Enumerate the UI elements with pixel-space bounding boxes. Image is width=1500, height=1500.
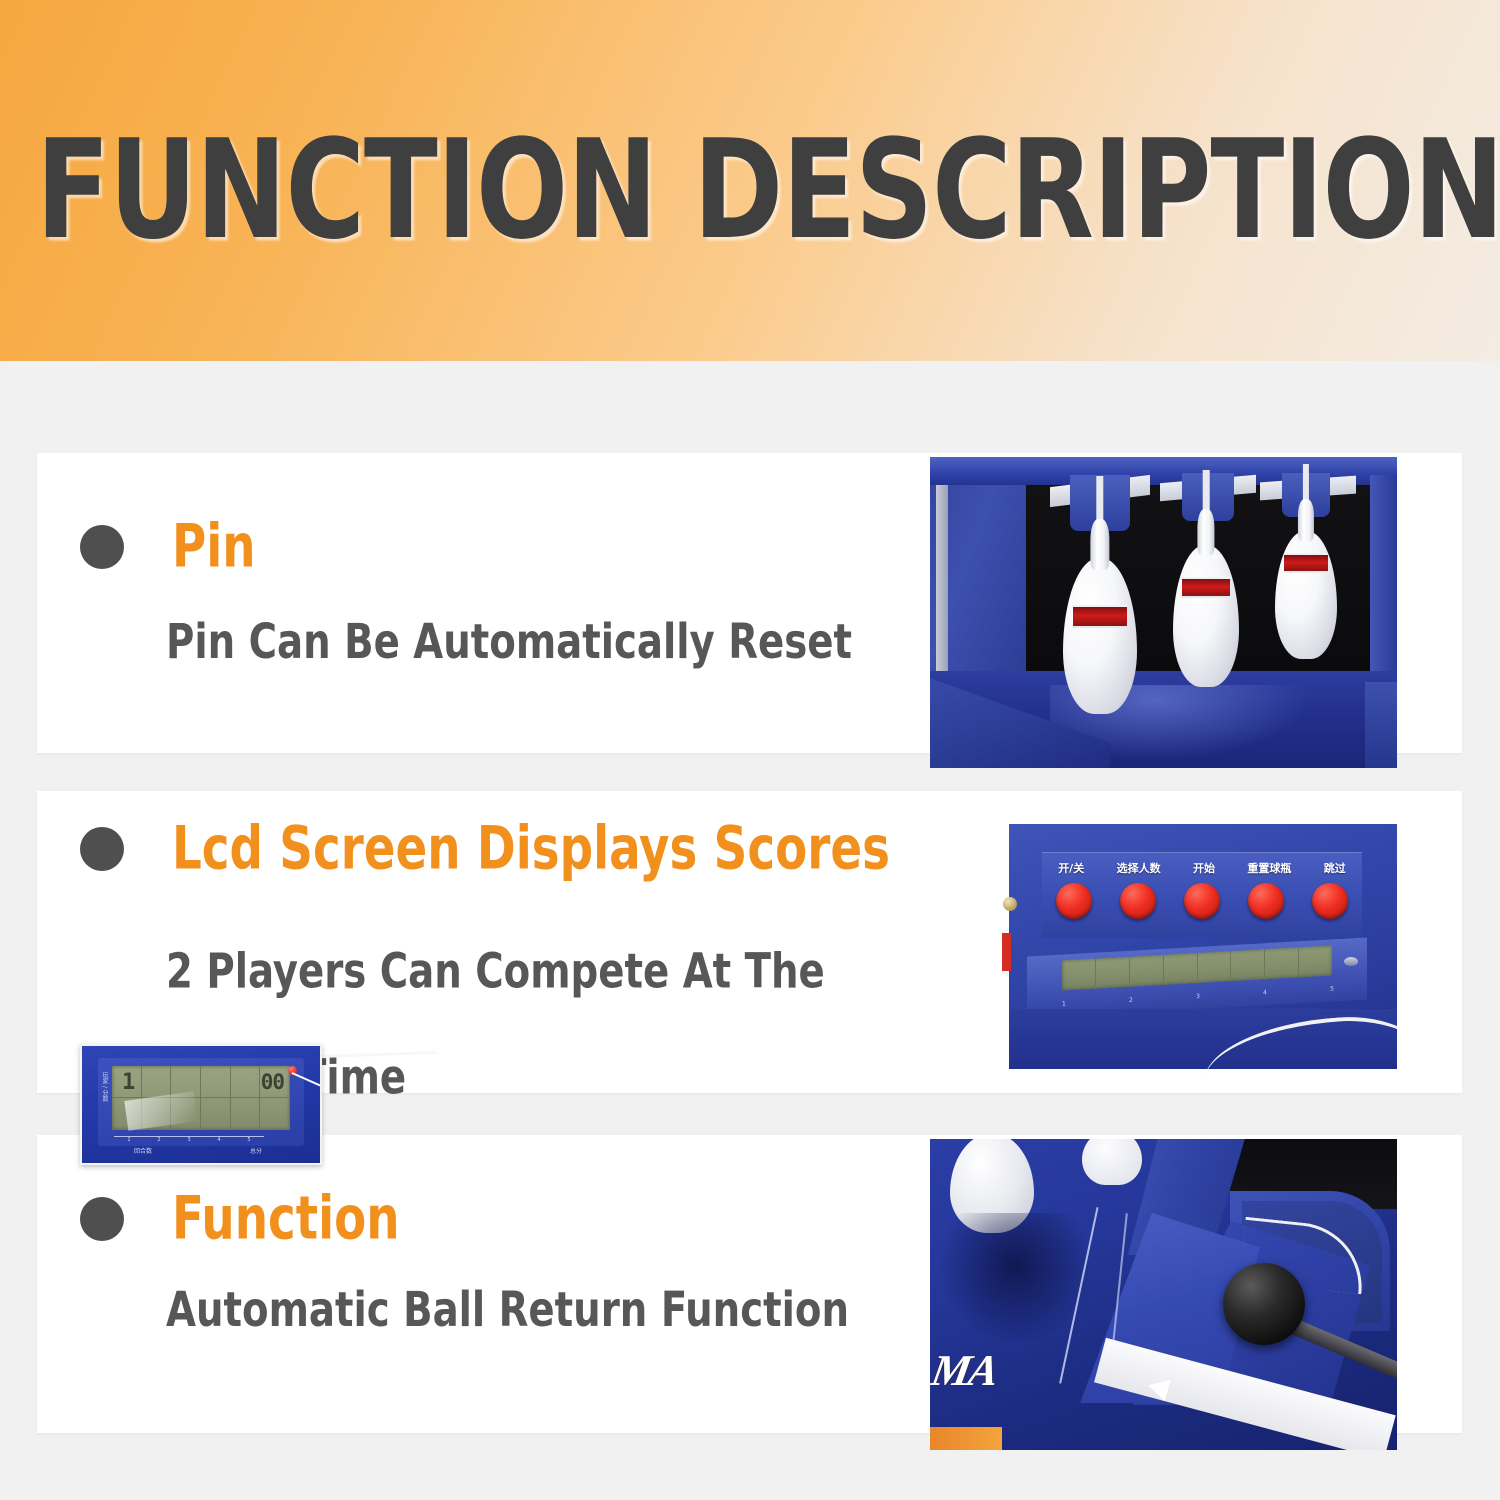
lcd-cell <box>260 1098 290 1130</box>
lcd-cell <box>1231 949 1265 981</box>
skip-button[interactable] <box>1312 883 1348 919</box>
pin-neck <box>1197 509 1214 555</box>
right-post <box>1370 475 1397 685</box>
feature-card-pin: Pin Pin Can Be Automatically Reset <box>37 453 1462 753</box>
pin-body <box>1173 545 1239 687</box>
bullet-dot-icon <box>80 525 124 569</box>
photo-bowling-pins <box>930 457 1397 768</box>
card-heading: Lcd Screen Displays Scores <box>172 819 890 878</box>
bowling-pin <box>1275 499 1337 659</box>
pin-body <box>1275 531 1337 659</box>
pin-red-stripe <box>1284 553 1329 573</box>
lcd-player-digit: 1 <box>122 1072 135 1094</box>
card-heading: Pin <box>172 517 256 576</box>
feature-card-function: Function Automatic Ball Return Function … <box>37 1135 1462 1433</box>
photo-control-panel: 开/关 选择人数 开始 重置球瓶 跳过 <box>972 797 1397 1089</box>
lcd-side-label: 玩家 / 分数 <box>100 1072 109 1102</box>
photo-lcd-closeup-inset: 玩家 / 分数 1 00 <box>80 1044 322 1165</box>
pin-body <box>1063 558 1137 714</box>
card-subtitle: Automatic Ball Return Function <box>166 1287 926 1335</box>
lcd-cell <box>1299 945 1332 977</box>
lcd-cell <box>201 1098 231 1130</box>
right-housing <box>1365 682 1397 768</box>
frame-tick: 5 <box>1330 985 1334 997</box>
cast-shadow <box>940 1213 1090 1343</box>
lcd-cell <box>231 1066 261 1098</box>
button-label-row: 开/关 选择人数 开始 重置球瓶 跳过 <box>1042 858 1362 878</box>
lcd-cell <box>1062 959 1096 991</box>
frame-tick: 3 <box>187 1137 190 1147</box>
bowling-ball <box>1223 1263 1305 1345</box>
lcd-score-digits: 00 <box>261 1072 284 1093</box>
card-text-block: Pin Pin Can Be Automatically Reset <box>37 453 917 753</box>
brand-logo: MA <box>930 1345 1001 1396</box>
knob-icon <box>1003 897 1017 911</box>
button-label-start: 开始 <box>1193 860 1215 876</box>
reset-pins-button[interactable] <box>1248 883 1284 919</box>
card-subtitle: Pin Can Be Automatically Reset <box>166 619 926 667</box>
frame-tick: 2 <box>157 1137 160 1147</box>
lcd-cell <box>142 1066 172 1098</box>
power-button[interactable] <box>1056 883 1092 919</box>
button-label-power: 开/关 <box>1058 860 1084 876</box>
pin-neck <box>1298 499 1314 541</box>
red-tab <box>1002 933 1011 971</box>
card-heading-row: Function <box>80 1193 400 1245</box>
frame-tick: 1 <box>127 1137 130 1147</box>
bullet-dot-icon <box>80 827 124 871</box>
lcd-screen: 1 00 <box>112 1066 290 1130</box>
lcd-bottom-label-right: 总分 <box>250 1146 262 1155</box>
lcd-cell <box>231 1098 261 1130</box>
card-heading-row: Pin <box>80 521 256 573</box>
feature-card-lcd-screen: Lcd Screen Displays Scores 2 Players Can… <box>37 791 1462 1093</box>
content-area: Pin Pin Can Be Automatically Reset <box>0 361 1500 1500</box>
lcd-cell <box>1265 947 1299 979</box>
button-label-select-players: 选择人数 <box>1117 860 1161 876</box>
card-text-block: Function Automatic Ball Return Function <box>37 1135 917 1433</box>
lcd-cell <box>1198 951 1232 983</box>
lcd-cell <box>201 1066 231 1098</box>
pin-red-stripe <box>1182 577 1230 599</box>
bowling-pin <box>1173 509 1239 687</box>
lcd-cell <box>1096 957 1130 989</box>
button-label-reset-pins: 重置球瓶 <box>1247 860 1291 876</box>
frame-tick: 4 <box>217 1137 220 1147</box>
frame-tick: 4 <box>1263 989 1267 1001</box>
frame-tick: 2 <box>1129 997 1133 1009</box>
screw-icon <box>1344 957 1358 966</box>
lcd-bottom-label: 回合数 <box>134 1146 152 1155</box>
bowling-pin <box>1063 519 1137 714</box>
select-players-button[interactable] <box>1120 883 1156 919</box>
button-label-skip: 跳过 <box>1324 860 1346 876</box>
lcd-cell <box>1130 955 1164 987</box>
start-button[interactable] <box>1184 883 1220 919</box>
left-edge-trim <box>936 475 948 675</box>
frame-tick: 3 <box>1196 993 1200 1005</box>
orange-accent-strip <box>930 1427 1002 1450</box>
card-heading: Function <box>172 1189 400 1248</box>
card-heading-row: Lcd Screen Displays Scores <box>80 823 890 875</box>
pin-red-stripe <box>1073 605 1126 629</box>
button-row <box>1042 879 1362 923</box>
photo-ball-return: MA <box>930 1139 1397 1450</box>
bullet-dot-icon <box>80 1197 124 1241</box>
lcd-cell <box>1164 953 1198 985</box>
page-title: FUNCTION DESCRIPTION <box>36 121 1500 258</box>
pin-neck <box>1090 519 1109 570</box>
bowling-pin <box>1082 1139 1142 1185</box>
page-header: FUNCTION DESCRIPTION <box>0 0 1500 361</box>
